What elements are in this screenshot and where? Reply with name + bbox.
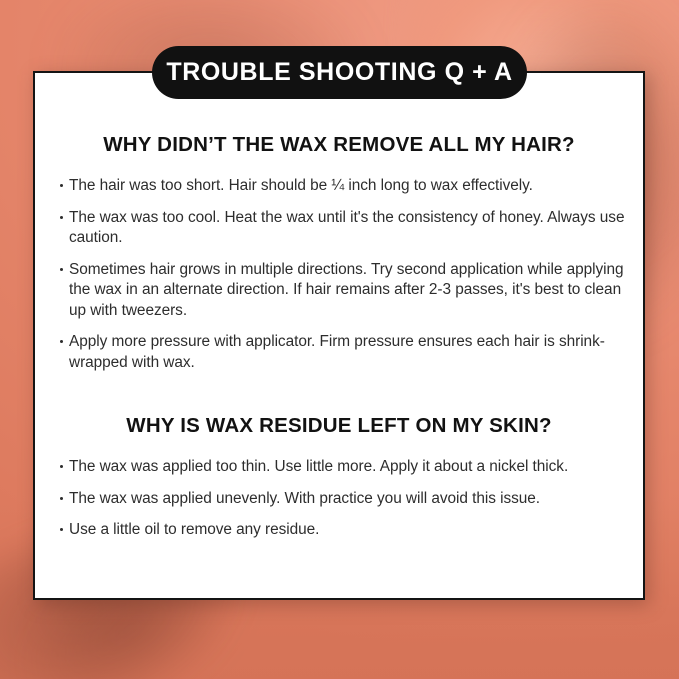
page-title: TROUBLE SHOOTING Q + A <box>166 58 512 87</box>
list-item-text: Sometimes hair grows in multiple directi… <box>69 260 627 322</box>
list-item-text: The hair was too short. Hair should be ¼… <box>69 176 627 197</box>
bullet-dot-icon <box>60 184 63 187</box>
list-item-text: The wax was too cool. Heat the wax until… <box>69 208 627 249</box>
list-item: Sometimes hair grows in multiple directi… <box>60 260 627 322</box>
card-content: WHY DIDN’T THE WAX REMOVE ALL MY HAIR? T… <box>33 71 645 600</box>
title-banner: TROUBLE SHOOTING Q + A <box>152 46 527 99</box>
bullet-dot-icon <box>60 216 63 219</box>
list-item-text: The wax was applied unevenly. With pract… <box>69 489 627 510</box>
list-item-text: Use a little oil to remove any residue. <box>69 520 627 541</box>
section-heading-wax-residue: WHY IS WAX RESIDUE LEFT ON MY SKIN? <box>33 414 645 438</box>
list-item: The hair was too short. Hair should be ¼… <box>60 176 627 197</box>
bullet-dot-icon <box>60 497 63 500</box>
bullet-dot-icon <box>60 528 63 531</box>
section-heading-hair-removal: WHY DIDN’T THE WAX REMOVE ALL MY HAIR? <box>33 133 645 157</box>
list-item-text: Apply more pressure with applicator. Fir… <box>69 332 627 373</box>
list-item: Use a little oil to remove any residue. <box>60 520 627 541</box>
list-item: The wax was applied unevenly. With pract… <box>60 489 627 510</box>
bullet-list-hair-removal: The hair was too short. Hair should be ¼… <box>33 176 645 373</box>
bullet-list-wax-residue: The wax was applied too thin. Use little… <box>33 457 645 541</box>
poster-root: TROUBLE SHOOTING Q + A WHY DIDN’T THE WA… <box>0 0 679 679</box>
bullet-dot-icon <box>60 465 63 468</box>
list-item: Apply more pressure with applicator. Fir… <box>60 332 627 373</box>
bullet-dot-icon <box>60 268 63 271</box>
list-item: The wax was too cool. Heat the wax until… <box>60 208 627 249</box>
list-item: The wax was applied too thin. Use little… <box>60 457 627 478</box>
list-item-text: The wax was applied too thin. Use little… <box>69 457 627 478</box>
bullet-dot-icon <box>60 340 63 343</box>
